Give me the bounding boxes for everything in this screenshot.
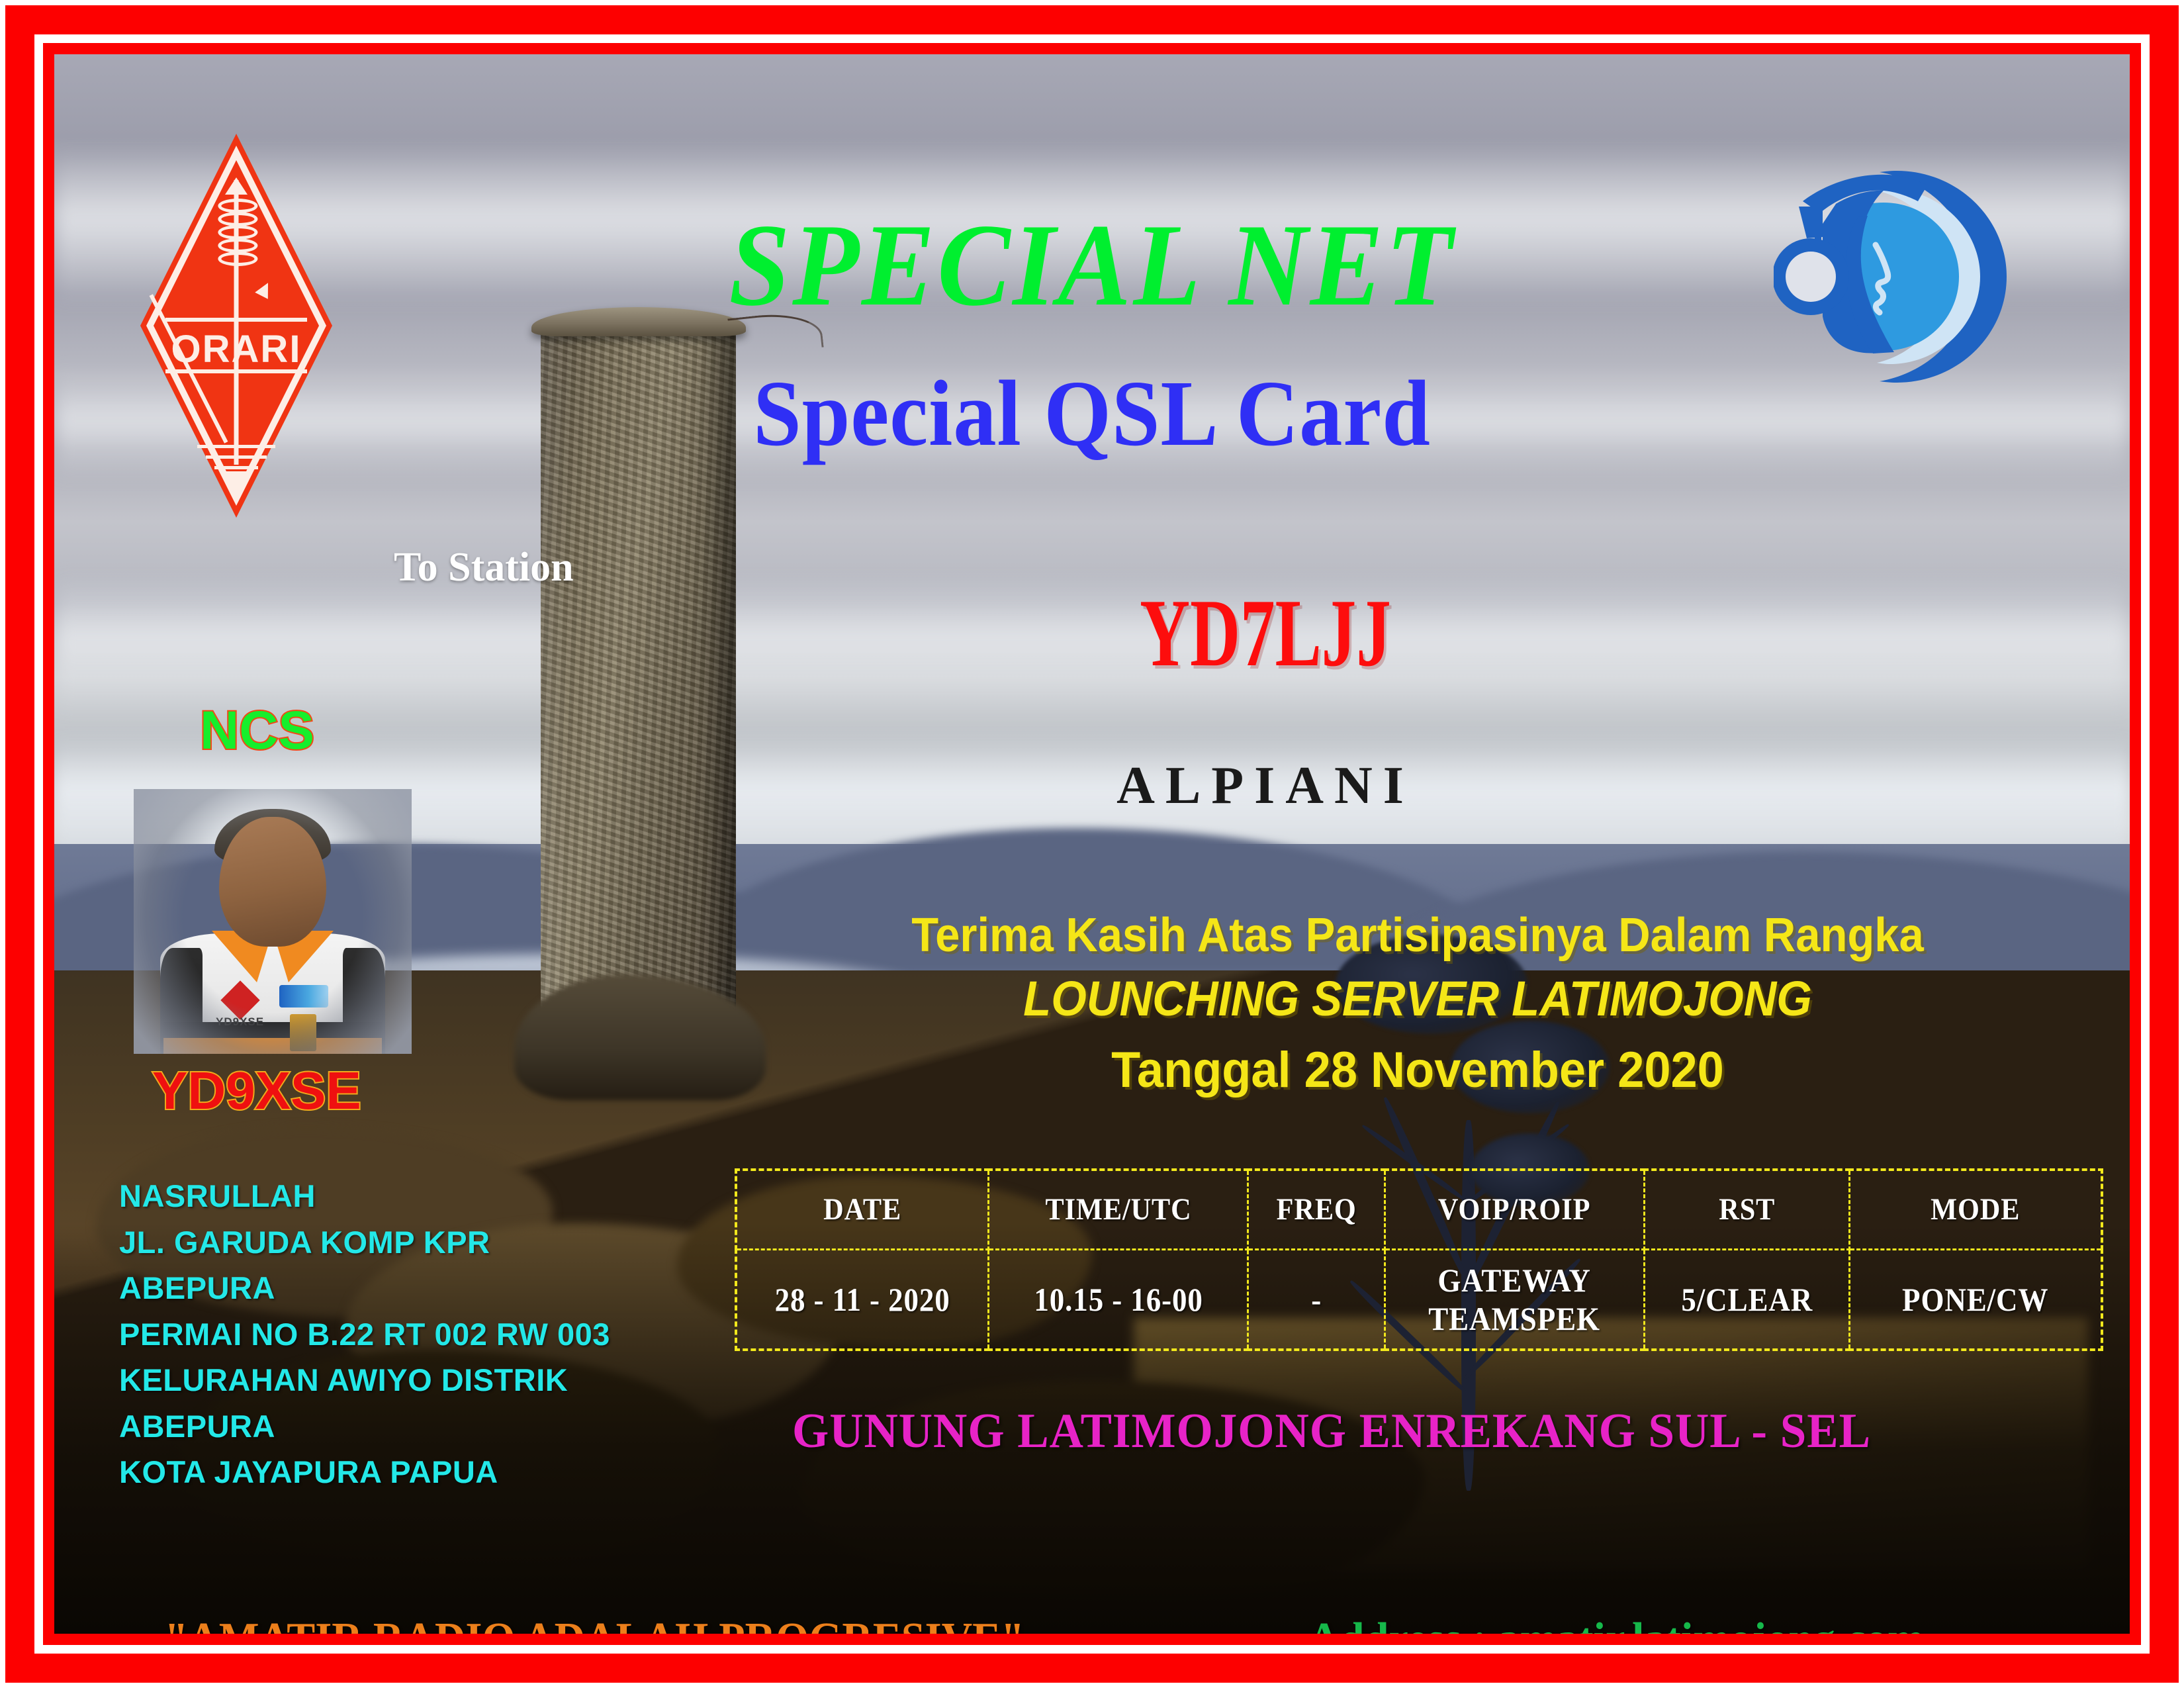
thanks-message-block: Terima Kasih Atas Partisipasinya Dalam R… — [749, 908, 2086, 1099]
address-line: KOTA JAYAPURA PAPUA — [119, 1449, 610, 1495]
white-border-gap: ORARI — [34, 34, 2150, 1654]
ncs-label: NCS — [200, 700, 314, 762]
thanks-line-1: Terima Kasih Atas Partisipasinya Dalam R… — [796, 908, 2040, 962]
address-line: KELURAHAN AWIYO DISTRIK — [119, 1357, 610, 1403]
qsl-card: ORARI — [0, 0, 2184, 1688]
operator-photo-vignette — [134, 789, 412, 1054]
cell-rst: 5/CLEAR — [1655, 1249, 1839, 1350]
background-photograph: ORARI — [54, 54, 2130, 1634]
address-line: ABEPURA — [119, 1265, 610, 1311]
footer-motto: "AMATIR RADIO ADALAH PROGRESIVE" — [164, 1613, 1024, 1634]
column-header-rst: RST — [1655, 1170, 1839, 1249]
page-subtitle-special-qsl-card: Special QSL Card — [137, 359, 2046, 467]
cell-date: 28 - 11 - 2020 — [749, 1249, 976, 1350]
column-header-voip: VOIP/ROIP — [1398, 1170, 1631, 1249]
address-line: JL. GARUDA KOMP KPR — [119, 1219, 610, 1266]
qso-details-table: DATE TIME/UTC FREQ VOIP/ROIP RST MODE 28… — [735, 1168, 2103, 1351]
sender-address-block: NASRULLAH JL. GARUDA KOMP KPR ABEPURA PE… — [119, 1173, 610, 1495]
ground-symbol-tip-icon — [222, 471, 251, 502]
address-line: ABEPURA — [119, 1403, 610, 1450]
location-line: GUNUNG LATIMOJONG ENREKANG SUL - SEL — [728, 1403, 1935, 1460]
outer-red-border: ORARI — [5, 5, 2179, 1683]
recipient-callsign: YD7LJJ — [984, 577, 1547, 688]
page-title-special-net: SPECIAL NET — [127, 197, 2057, 333]
table-header-row: DATE TIME/UTC FREQ VOIP/ROIP RST MODE — [736, 1170, 2102, 1249]
address-line: NASRULLAH — [119, 1173, 610, 1219]
cell-voip: GATEWAY TEAMSPEK — [1398, 1249, 1631, 1350]
cell-time: 10.15 - 16-00 — [1001, 1249, 1235, 1350]
thanks-line-2-event: LOUNCHING SERVER LATIMOJONG — [796, 970, 2040, 1027]
inner-red-border: ORARI — [43, 43, 2141, 1645]
to-station-label: To Station — [394, 544, 574, 591]
column-header-mode: MODE — [1862, 1170, 2089, 1249]
cell-mode: PONE/CW — [1862, 1249, 2089, 1350]
card-content-overlay: ORARI — [54, 54, 2130, 1634]
column-header-time: TIME/UTC — [1001, 1170, 1235, 1249]
operator-avatar: YD9XSE — [134, 789, 412, 1054]
cell-freq: - — [1255, 1249, 1378, 1350]
ncs-callsign: YD9XSE — [152, 1060, 361, 1121]
address-line: PERMAI NO B.22 RT 002 RW 003 — [119, 1311, 610, 1358]
table-row: 28 - 11 - 2020 10.15 - 16-00 - GATEWAY T… — [736, 1249, 2102, 1350]
footer-web-address: Address : amatir.latimojong.com — [1308, 1613, 1924, 1634]
column-header-date: DATE — [749, 1170, 976, 1249]
recipient-operator-name: ALPIANI — [875, 756, 1656, 816]
column-header-freq: FREQ — [1255, 1170, 1378, 1249]
thanks-line-3-date: Tanggal 28 November 2020 — [783, 1041, 2053, 1099]
